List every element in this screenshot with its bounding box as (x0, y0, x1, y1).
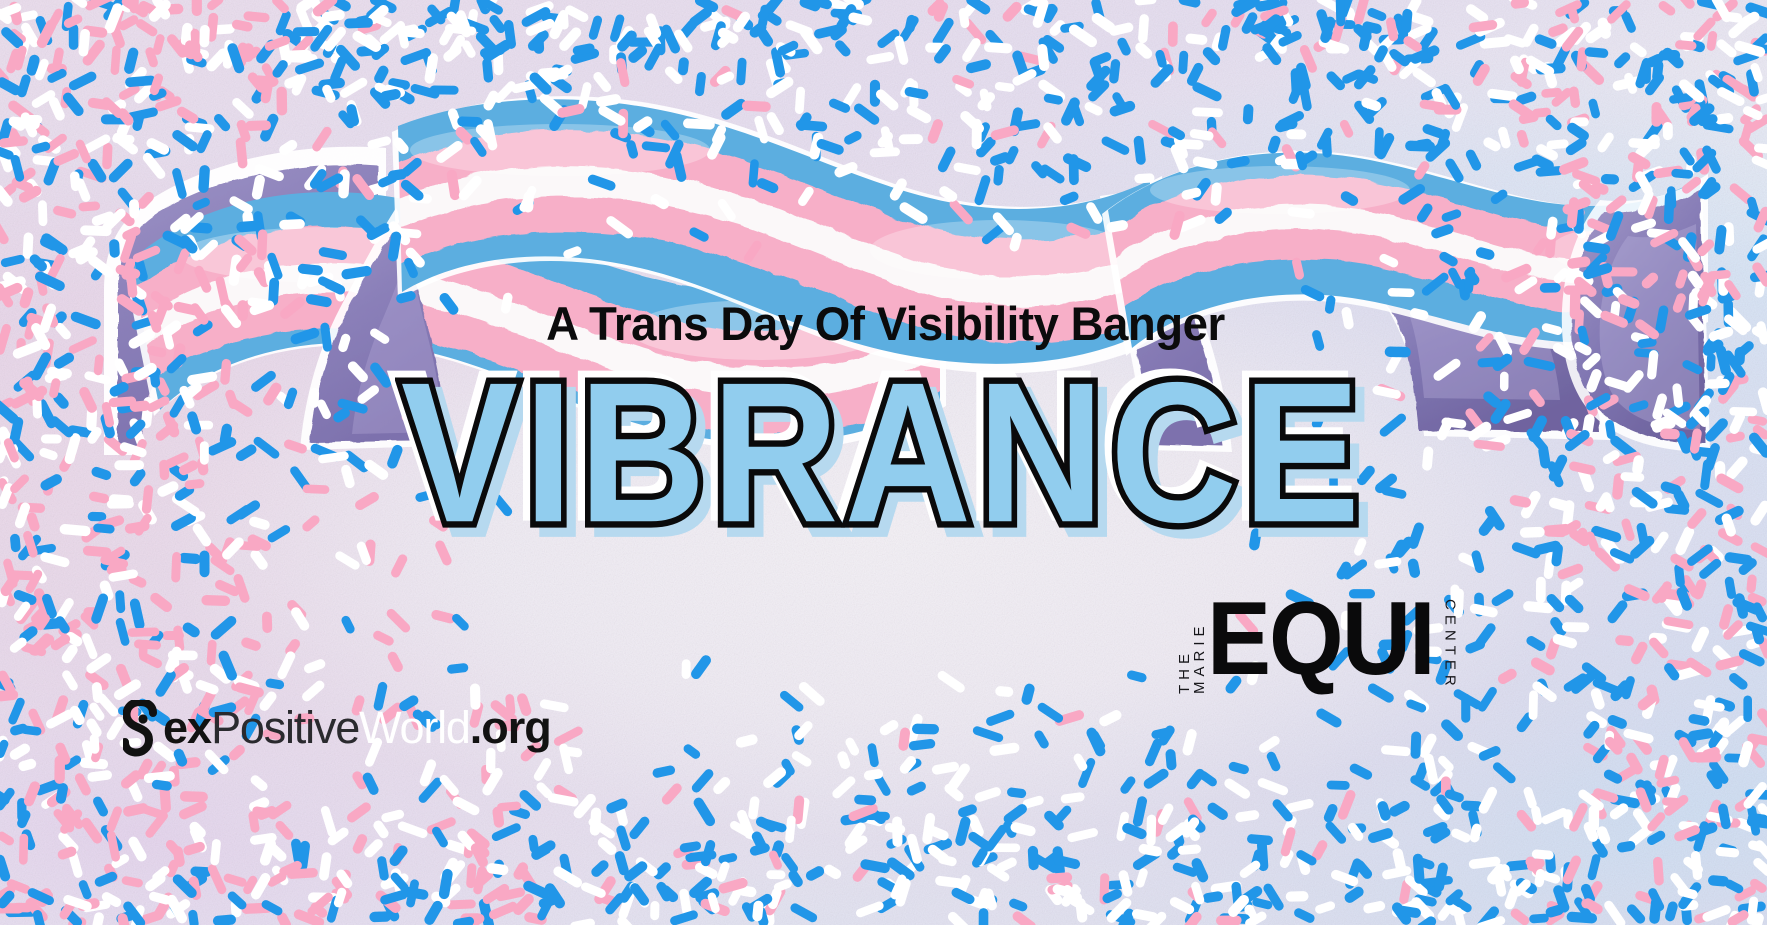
equi-prefix-the-marie: THE MARIE (1168, 596, 1207, 696)
logo-text-org: .org (470, 702, 551, 754)
poster-canvas: A Trans Day Of Visibility Banger VIBRANC… (0, 0, 1767, 925)
equi-wordmark: EQUI (1207, 592, 1434, 700)
equi-suffix-center: CENTER (1434, 596, 1458, 696)
wordmark-group: VIBRANCE VIBRANCE VIBRANCE (0, 353, 1767, 538)
yin-yang-s-icon (123, 700, 163, 756)
marie-equi-center-logo[interactable]: THE MARIE EQUI CENTER (1168, 596, 1458, 696)
sex-positive-world-logo[interactable]: ex Positive World .org (123, 700, 551, 756)
logo-text-ex: ex (163, 702, 211, 754)
headline-block: A Trans Day Of Visibility Banger VIBRANC… (0, 300, 1767, 538)
logo-text-positive: Positive (211, 702, 359, 754)
logo-text-world: World (359, 702, 470, 754)
wordmark-vibrance: VIBRANCE (0, 353, 1767, 553)
